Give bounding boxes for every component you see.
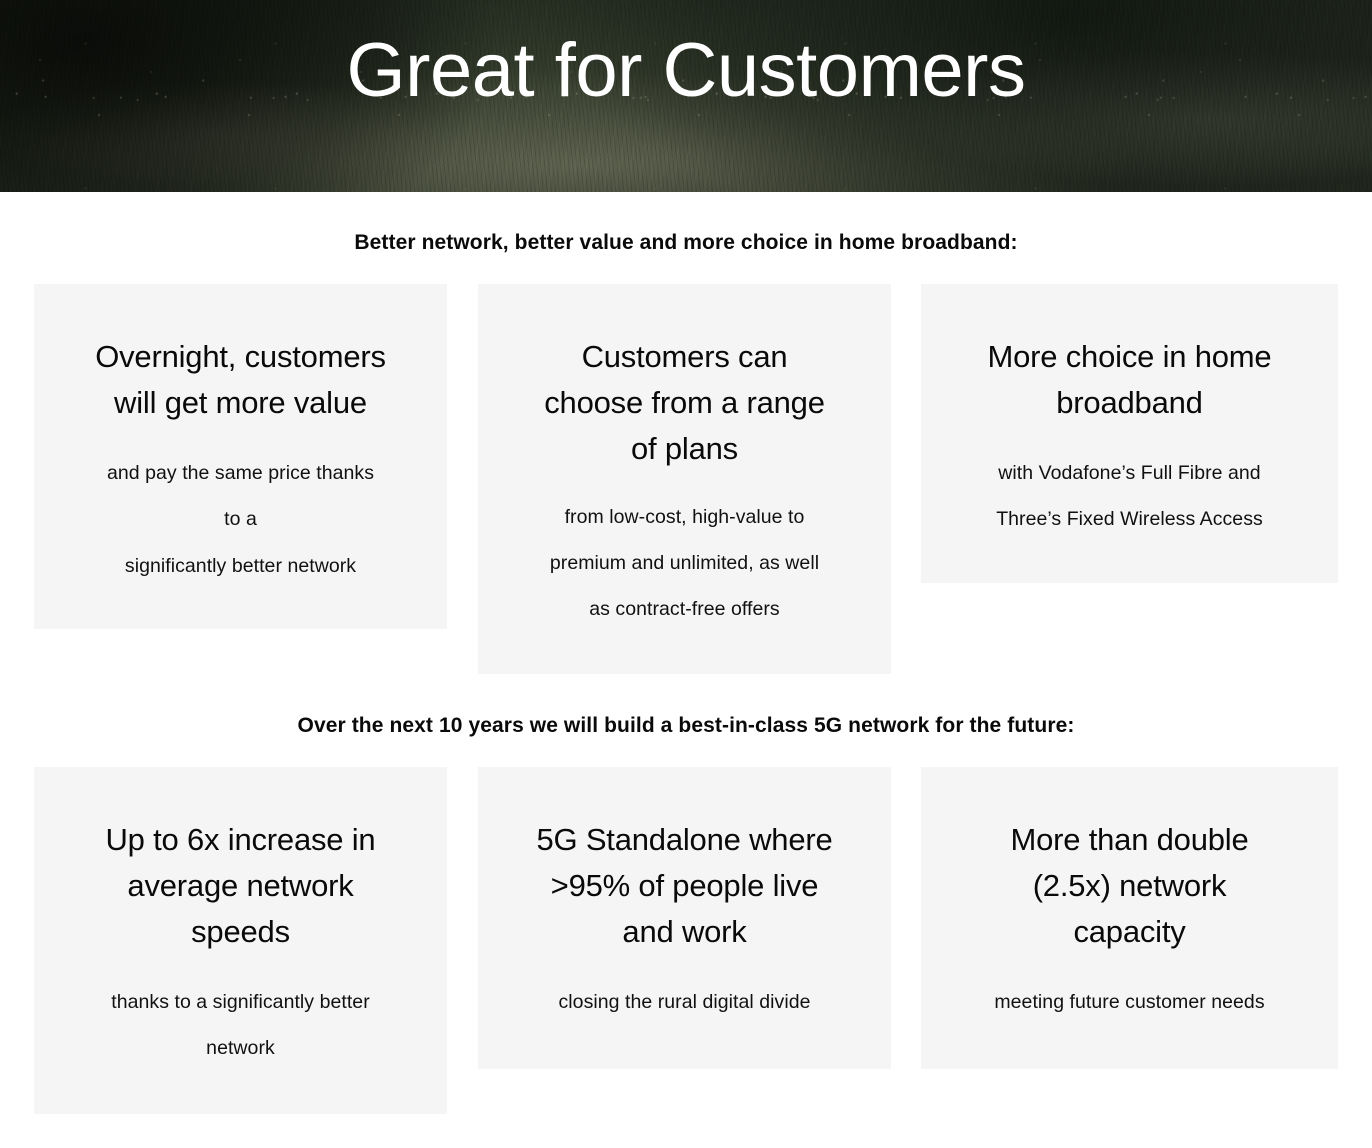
card-body: thanks to a significantly better network [52, 979, 429, 1072]
section-heading-5g-network: Over the next 10 years we will build a b… [0, 714, 1372, 738]
section-heading-broadband: Better network, better value and more ch… [0, 231, 1372, 255]
card-overnight-value: Overnight, customers will get more value… [34, 284, 447, 629]
card-body: meeting future customer needs [939, 979, 1320, 1025]
card-body: with Vodafone’s Full Fibre and Three’s F… [939, 450, 1320, 543]
slide-page: Great for Customers Better network, bett… [0, 0, 1372, 1148]
card-5g-standalone-coverage: 5G Standalone where >95% of people live … [478, 767, 891, 1069]
card-title: Customers can choose from a range of pla… [496, 334, 873, 472]
card-body: and pay the same price thanks to a signi… [52, 450, 429, 589]
card-title: More choice in home broadband [939, 334, 1320, 426]
card-title: 5G Standalone where >95% of people live … [496, 817, 873, 955]
hero-title: Great for Customers [0, 31, 1372, 111]
card-network-speeds: Up to 6x increase in average network spe… [34, 767, 447, 1114]
card-range-of-plans: Customers can choose from a range of pla… [478, 284, 891, 674]
card-body: closing the rural digital divide [496, 979, 873, 1025]
card-network-capacity: More than double (2.5x) network capacity… [921, 767, 1338, 1069]
card-title: Up to 6x increase in average network spe… [52, 817, 429, 955]
hero-banner: Great for Customers [0, 0, 1372, 192]
card-title: More than double (2.5x) network capacity [939, 817, 1320, 955]
card-body: from low-cost, high-value to premium and… [496, 494, 873, 633]
card-title: Overnight, customers will get more value [52, 334, 429, 426]
card-home-broadband-choice: More choice in home broadband with Vodaf… [921, 284, 1338, 583]
